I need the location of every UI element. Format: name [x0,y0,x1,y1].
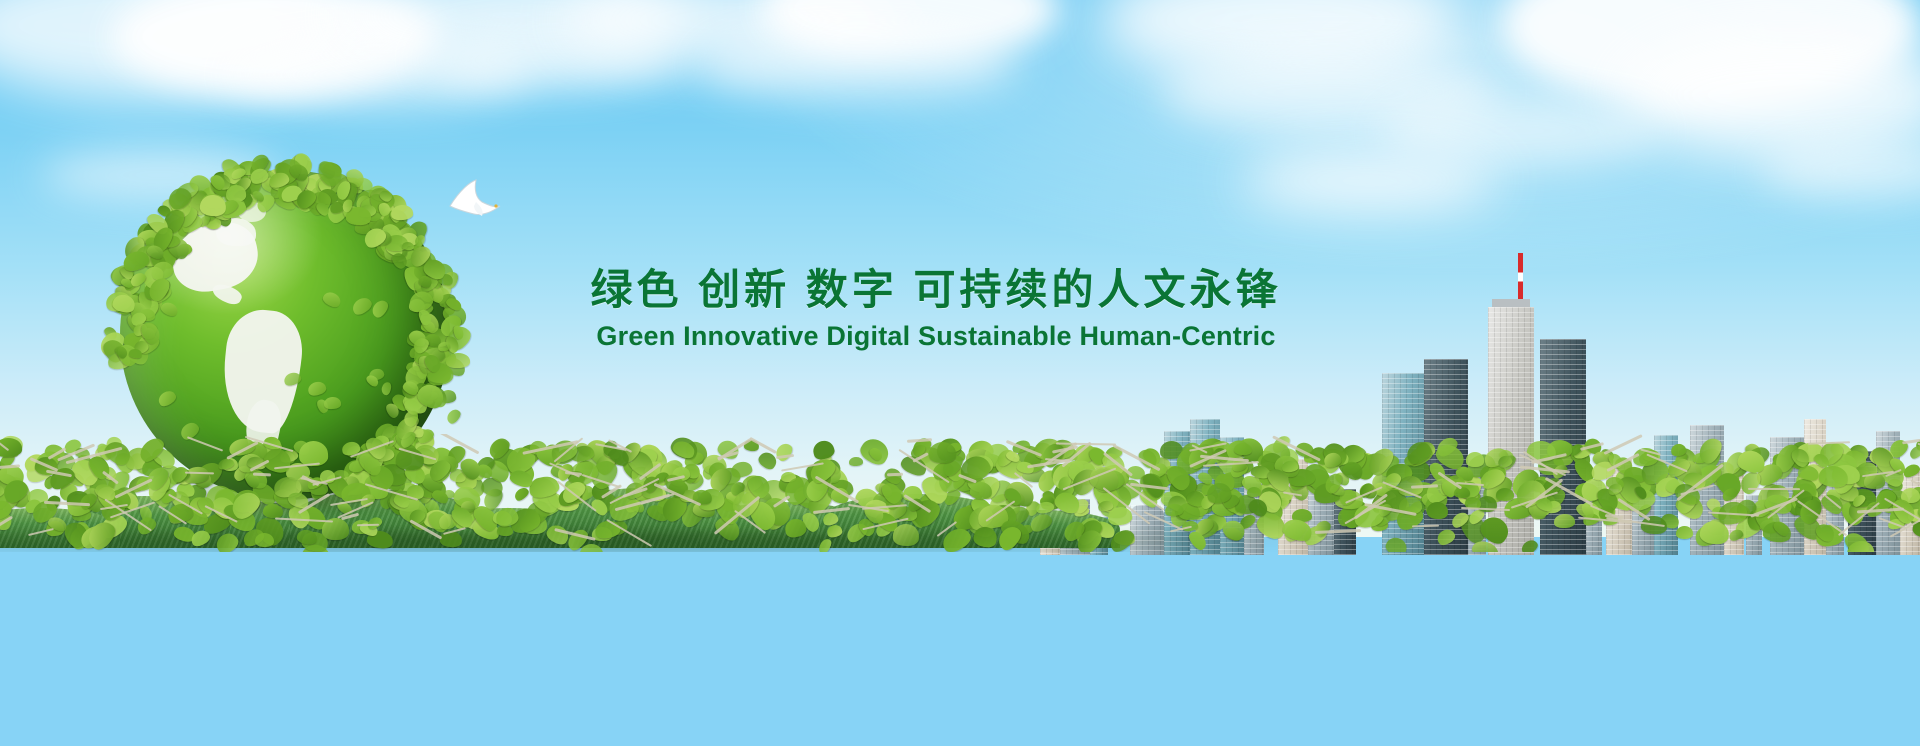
hero-banner: 绿色 创新 数字 可持续的人文永锋 Green Innovative Digit… [0,0,1920,746]
ivy-leaf [255,532,274,547]
ivy-leaf [1554,513,1576,528]
ivy-vine [1748,488,1800,491]
ivy-leaf [391,204,414,221]
ivy-leaf [402,241,415,250]
ivy-leaf [430,488,450,506]
page-subtitle: Green Innovative Digital Sustainable Hum… [556,321,1316,352]
seagull-icon [446,176,502,222]
ivy-leaf [1466,452,1484,467]
ivy-leaf [848,457,863,467]
ivy-leaf [1454,487,1470,498]
banner-text-block: 绿色 创新 数字 可持续的人文永锋 Green Innovative Digit… [556,268,1316,352]
ivy-leaf [365,515,383,531]
ivy-leaf [929,442,956,463]
ivy-vine [1412,525,1439,528]
page-title: 绿色 创新 数字 可持续的人文永锋 [556,268,1316,312]
ivy-vine [887,472,903,475]
ivy-leaf [1496,488,1515,501]
ivy-leaf [811,438,836,461]
ivy-leaf-carpet [0,434,1920,552]
ivy-leaf [298,440,328,466]
ivy-leaf [1908,443,1920,460]
ivy-leaf [1676,526,1693,539]
ivy-vine [187,437,224,453]
